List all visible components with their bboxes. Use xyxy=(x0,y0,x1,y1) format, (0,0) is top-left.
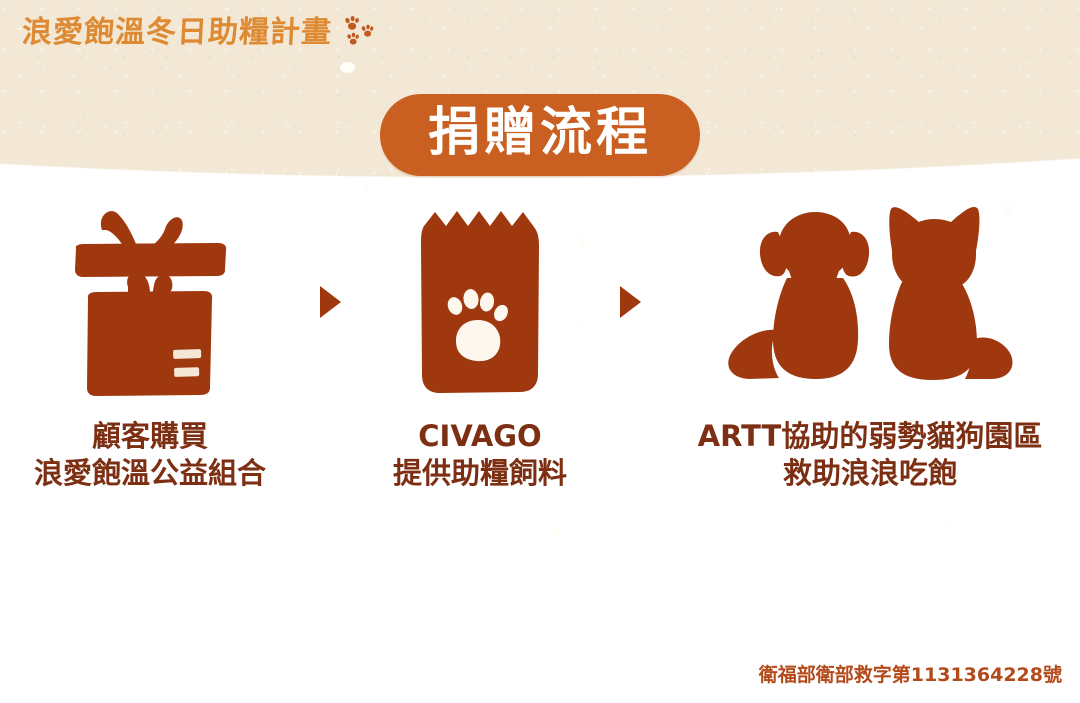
cat-silhouette xyxy=(889,207,1012,380)
flow-arrow-1 xyxy=(300,196,360,408)
flow-step-2-caption-line2: 提供助糧飼料 xyxy=(393,455,567,492)
dog-and-cat-icon-svg xyxy=(725,202,1015,402)
triangle-right-icon xyxy=(320,286,341,318)
flow-step-2-caption: CIVAGO 提供助糧飼料 xyxy=(393,418,567,491)
flow-step-3-caption-line1: ARTT協助的弱勢貓狗園區 xyxy=(698,418,1043,455)
gift-box-icon-svg xyxy=(70,202,230,402)
pet-food-bag-icon-svg xyxy=(410,202,550,402)
section-title-badge: 捐贈流程 xyxy=(380,94,700,176)
flow-step-1-caption-line1: 顧客購買 xyxy=(34,418,266,455)
brand-logo-text: 浪愛飽溫冬日助糧計畫 xyxy=(21,18,333,48)
dog-and-cat-icon xyxy=(725,196,1015,408)
dog-silhouette xyxy=(728,212,869,379)
paw-print-icon xyxy=(338,14,378,54)
gift-box-icon xyxy=(70,196,230,408)
permit-number: 衛福部衛部救字第1131364228號 xyxy=(759,660,1062,687)
pet-food-bag-icon xyxy=(410,196,550,408)
flow-arrow-2 xyxy=(600,196,660,408)
flow-step-1-caption-line2: 浪愛飽溫公益組合 xyxy=(34,455,266,492)
donation-flow-row: 顧客購買 浪愛飽溫公益組合 xyxy=(0,196,1080,491)
flow-step-3: ARTT協助的弱勢貓狗園區 救助浪浪吃飽 xyxy=(660,196,1080,491)
flow-step-2: CIVAGO 提供助糧飼料 xyxy=(360,196,600,491)
flow-step-1: 顧客購買 浪愛飽溫公益組合 xyxy=(0,196,300,491)
flow-step-2-caption-line1: CIVAGO xyxy=(393,418,567,455)
flow-step-3-caption: ARTT協助的弱勢貓狗園區 救助浪浪吃飽 xyxy=(698,418,1043,491)
brand-logo: 浪愛飽溫冬日助糧計畫 xyxy=(22,18,378,54)
flow-step-3-caption-line2: 救助浪浪吃飽 xyxy=(698,455,1043,492)
donation-flow-poster: 浪愛飽溫冬日助糧計畫 捐 xyxy=(0,0,1080,703)
flow-step-1-caption: 顧客購買 浪愛飽溫公益組合 xyxy=(34,418,266,491)
paw-print-icon-svg xyxy=(338,14,378,54)
page-title: 捐贈流程 xyxy=(428,107,652,159)
triangle-right-icon xyxy=(620,286,641,318)
